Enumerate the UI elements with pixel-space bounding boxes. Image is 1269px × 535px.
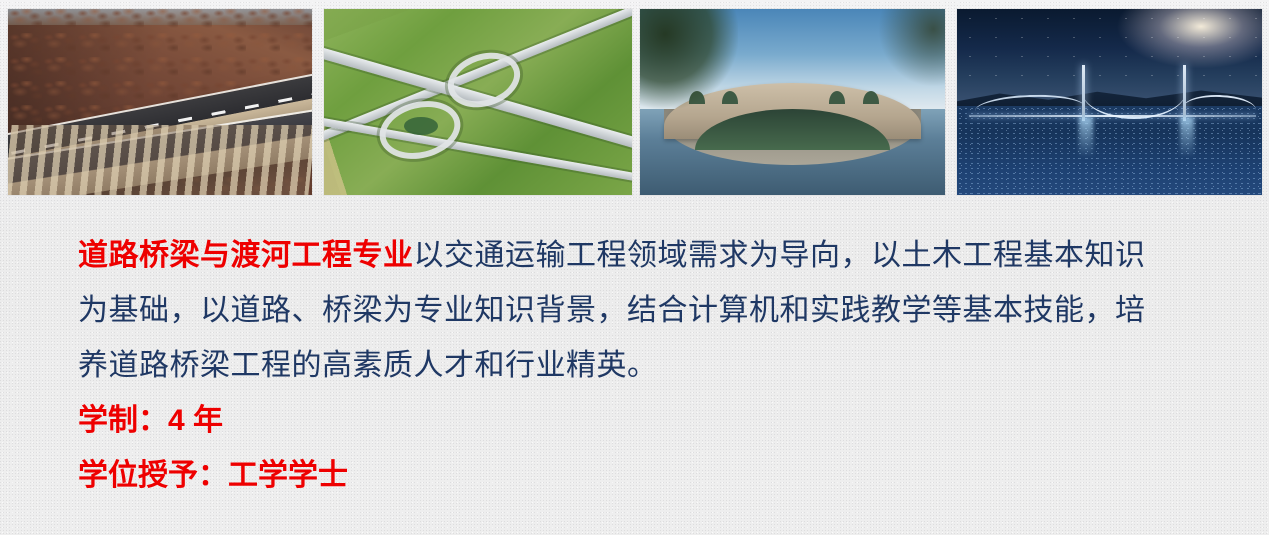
willow-tree bbox=[640, 9, 738, 109]
tower-light-glow-right bbox=[1180, 117, 1194, 158]
gallery-photo-stone-arch-bridge bbox=[640, 9, 945, 195]
program-intro-page: 道路桥梁与渡河工程专业以交通运输工程领域需求为导向，以土木工程基本知识 为基础，… bbox=[0, 0, 1269, 535]
bridge-piers bbox=[8, 125, 312, 195]
interchange-scene bbox=[324, 9, 632, 195]
gallery-photo-suspension-bridge-night bbox=[957, 9, 1262, 195]
tower-light-glow-left bbox=[1079, 117, 1093, 158]
description-line-1-rest: 以交通运输工程领域需求为导向，以土木工程基本知识 bbox=[414, 239, 1146, 272]
description-line-3: 养道路桥梁工程的高素质人才和行业精英。 bbox=[78, 338, 1228, 393]
program-description: 道路桥梁与渡河工程专业以交通运输工程领域需求为导向，以土木工程基本知识 为基础，… bbox=[78, 228, 1228, 503]
program-duration: 学制：4 年 bbox=[78, 393, 1228, 448]
night-bridge-scene bbox=[957, 9, 1262, 195]
pond bbox=[404, 117, 438, 135]
stone-arch-scene bbox=[640, 9, 945, 195]
description-line-2: 为基础，以道路、桥梁为专业知识背景，结合计算机和实践教学等基本技能，培 bbox=[78, 283, 1228, 338]
gallery-photo-mountain-viaduct bbox=[8, 9, 312, 195]
bridge-deck bbox=[969, 115, 1256, 117]
bridge-tower-right bbox=[1183, 65, 1186, 121]
degree-awarded: 学位授予：工学学士 bbox=[78, 448, 1228, 503]
gallery-photo-highway-interchange bbox=[324, 9, 632, 195]
bank-tree bbox=[878, 9, 945, 87]
stars bbox=[957, 9, 1262, 93]
photo-gallery-strip bbox=[0, 0, 1269, 200]
bridge-tower-left bbox=[1082, 65, 1085, 121]
description-line-1: 道路桥梁与渡河工程专业以交通运输工程领域需求为导向，以土木工程基本知识 bbox=[78, 228, 1228, 283]
program-name-highlight: 道路桥梁与渡河工程专业 bbox=[78, 239, 414, 272]
mountain-viaduct-scene bbox=[8, 9, 312, 195]
